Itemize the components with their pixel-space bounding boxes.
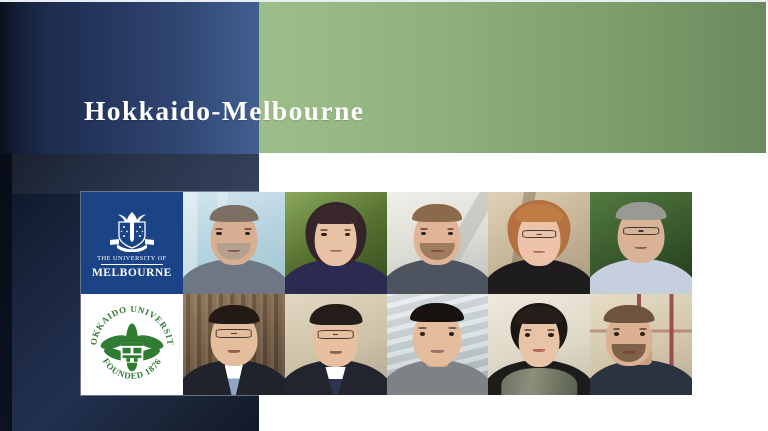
- hokkaido-university-logo: HOKKAIDO UNIVERSITY FOUNDED 1876: [81, 294, 183, 396]
- photo-10-eye-right: [640, 332, 645, 335]
- photo-9-eye-left: [525, 333, 530, 336]
- photo-2-eyebrow-right: [344, 229, 352, 231]
- photo-9-eye-right: [548, 333, 553, 336]
- awardee-photo-7: [285, 294, 387, 396]
- photo-7-mouth: [329, 351, 341, 354]
- photo-3-mouth: [431, 250, 443, 253]
- hokkaido-seal-icon: HOKKAIDO UNIVERSITY FOUNDED 1876: [85, 297, 179, 391]
- photo-3-eyebrow-right: [447, 228, 455, 230]
- photo-2-eye-left: [321, 233, 326, 236]
- photo-5-mouth: [635, 247, 647, 250]
- awardee-photo-9: [488, 294, 590, 396]
- banner-top-rule: [0, 0, 768, 2]
- photo-2-mouth: [329, 250, 341, 253]
- photo-8-mouth: [431, 350, 443, 353]
- photo-4-glasses: [522, 230, 556, 239]
- awardee-photo-6: [183, 294, 285, 396]
- awardee-photo-1: [183, 192, 285, 294]
- photo-1-eyebrow-left: [215, 228, 223, 230]
- photo-2-eyebrow-left: [320, 229, 328, 231]
- melbourne-logo-divider: [101, 264, 163, 265]
- photo-1-eyebrow-right: [244, 228, 252, 230]
- photo-7-glasses: [317, 330, 354, 339]
- awardee-photo-10: [590, 294, 692, 396]
- lower-panel-left-edge: [0, 154, 12, 431]
- photo-3-eye-right: [448, 232, 453, 235]
- awardee-photo-3: [387, 192, 489, 294]
- photo-8-eye-left: [420, 332, 425, 335]
- photo-2-eye-right: [345, 233, 350, 236]
- photo-6-glasses: [215, 329, 252, 338]
- photo-1-mouth: [228, 250, 240, 253]
- presentation-slide: Hokkaido-Melbourne Joint Research Worksh…: [0, 0, 768, 431]
- photo-6-mouth: [228, 350, 240, 353]
- melbourne-logo-line-1: THE UNIVERSITY OF: [97, 255, 167, 262]
- title-line-1: Hokkaido-Melbourne: [84, 94, 724, 129]
- melbourne-crest-icon: [107, 209, 157, 252]
- photo-1-eye-left: [216, 232, 221, 235]
- photo-4-mouth: [533, 251, 545, 254]
- awardee-photo-mosaic: THE UNIVERSITY OF MELBOURNE: [81, 192, 692, 395]
- melbourne-university-logo: THE UNIVERSITY OF MELBOURNE: [81, 192, 183, 294]
- photo-9-mouth: [533, 349, 545, 352]
- photo-3-eyebrow-left: [420, 228, 428, 230]
- awardee-photo-8: [387, 294, 489, 396]
- photo-8-eye-right: [449, 332, 454, 335]
- awardee-photo-2: [285, 192, 387, 294]
- melbourne-logo-line-2: MELBOURNE: [92, 267, 172, 279]
- photo-10-mouth: [623, 351, 635, 354]
- photo-5-glasses: [623, 227, 659, 236]
- photo-10-eye-left: [614, 332, 619, 335]
- awardee-photo-5: [590, 192, 692, 294]
- photo-9-scarf: [502, 368, 577, 395]
- banner-left-edge-shadow: [0, 0, 12, 154]
- awardee-photo-4: [488, 192, 590, 294]
